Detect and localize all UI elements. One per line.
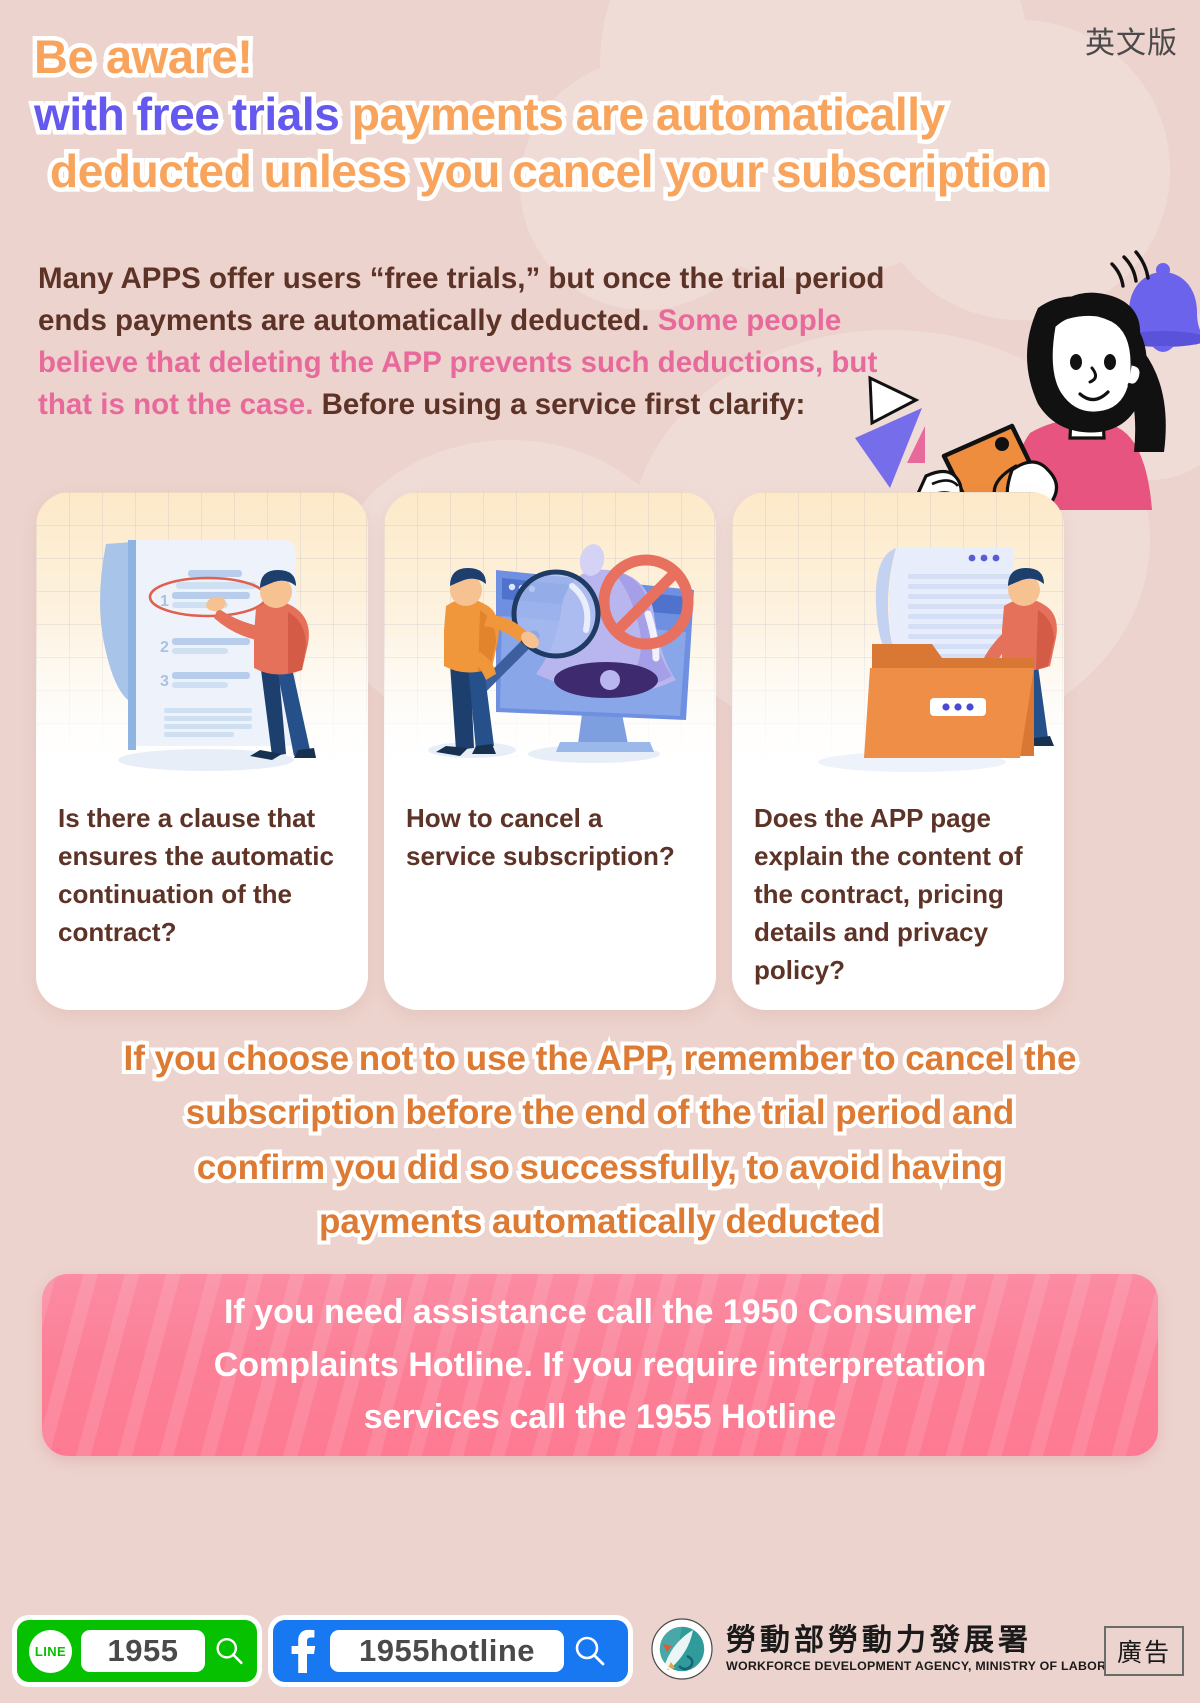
hotline-callout-box: If you need assistance call the 1950 Con… bbox=[42, 1274, 1158, 1456]
facebook-id-pill: 1955hotline bbox=[330, 1630, 564, 1672]
info-cards: 1 2 3 bbox=[36, 492, 1164, 1010]
line-id-pill: 1955 bbox=[81, 1630, 205, 1672]
card-2-caption: How to cancel a service subscription? bbox=[384, 792, 716, 876]
cancel-notification-bell-icon bbox=[384, 492, 716, 792]
card-contract-clause[interactable]: 1 2 3 bbox=[36, 492, 368, 1010]
agency-logo-block: 勞動部勞動力發展署 WORKFORCE DEVELOPMENT AGENCY, … bbox=[651, 1618, 1106, 1680]
card-2-art bbox=[384, 492, 716, 792]
line-icon: LINE bbox=[29, 1630, 72, 1673]
search-icon[interactable] bbox=[573, 1634, 607, 1668]
svg-text:3: 3 bbox=[160, 673, 169, 690]
cta-line-2: subscription before the end of the trial… bbox=[24, 1086, 1176, 1140]
headline-payments-auto: payments are automatically bbox=[352, 88, 945, 140]
card-3-art bbox=[732, 492, 1064, 792]
card-1-caption: Is there a clause that ensures the autom… bbox=[36, 792, 368, 952]
card-cancel-subscription[interactable]: How to cancel a service subscription? bbox=[384, 492, 716, 1010]
headline-free-trials: with free trials bbox=[34, 88, 339, 140]
cta-line-4: payments automatically deducted bbox=[24, 1195, 1176, 1249]
ad-label-box: 廣告 bbox=[1104, 1626, 1184, 1676]
hotline-line-2: Complaints Hotline. If you require inter… bbox=[214, 1339, 987, 1392]
hero-illustration bbox=[780, 248, 1200, 508]
hotline-line-1: If you need assistance call the 1950 Con… bbox=[214, 1286, 987, 1339]
poster-page: 英文版 Be aware! with free trials payments … bbox=[0, 0, 1200, 1703]
cta-line-1: If you choose not to use the APP, rememb… bbox=[24, 1032, 1176, 1086]
facebook-badge[interactable]: 1955hotline bbox=[273, 1620, 628, 1682]
headline-line-1: Be aware! bbox=[34, 28, 1104, 86]
agency-name-cn: 勞動部勞動力發展署 bbox=[726, 1625, 1106, 1657]
intro-paragraph: Many APPS offer users “free trials,” but… bbox=[38, 258, 893, 426]
card-3-caption: Does the APP page explain the content of… bbox=[732, 792, 1064, 990]
facebook-icon bbox=[285, 1629, 321, 1673]
wda-seal-icon bbox=[651, 1618, 713, 1680]
footer-bar: LINE 1955 1955hotline bbox=[0, 1604, 1200, 1703]
hotline-text: If you need assistance call the 1950 Con… bbox=[214, 1286, 987, 1444]
card-app-page-info[interactable]: Does the APP page explain the content of… bbox=[732, 492, 1064, 1010]
contract-document-icon: 1 2 3 bbox=[36, 492, 368, 792]
line-icon-label: LINE bbox=[35, 1644, 66, 1659]
headline-deducted: deducted unless you cancel your subscrip… bbox=[50, 145, 1047, 197]
intro-dark-2: Before using a service first clarify: bbox=[322, 388, 806, 421]
headline-line-3: deducted unless you cancel your subscrip… bbox=[50, 143, 1104, 200]
line-badge[interactable]: LINE 1955 bbox=[17, 1620, 257, 1682]
folder-documents-icon bbox=[732, 492, 1064, 792]
headline-line-2: with free trials payments are automatica… bbox=[34, 86, 1104, 143]
agency-name-en: WORKFORCE DEVELOPMENT AGENCY, MINISTRY O… bbox=[726, 1659, 1106, 1673]
line-id-value: 1955 bbox=[108, 1633, 179, 1669]
agency-text: 勞動部勞動力發展署 WORKFORCE DEVELOPMENT AGENCY, … bbox=[726, 1625, 1106, 1674]
hotline-line-3: services call the 1955 Hotline bbox=[214, 1391, 987, 1444]
headline-block: Be aware! with free trials payments are … bbox=[34, 28, 1104, 200]
svg-text:2: 2 bbox=[160, 639, 169, 656]
cta-block: If you choose not to use the APP, rememb… bbox=[24, 1032, 1176, 1249]
search-icon[interactable] bbox=[214, 1634, 245, 1668]
headline-be-aware: Be aware! bbox=[34, 30, 252, 83]
card-1-art: 1 2 3 bbox=[36, 492, 368, 792]
facebook-id-value: 1955hotline bbox=[359, 1633, 535, 1669]
cta-line-3: confirm you did so successfully, to avoi… bbox=[24, 1141, 1176, 1195]
